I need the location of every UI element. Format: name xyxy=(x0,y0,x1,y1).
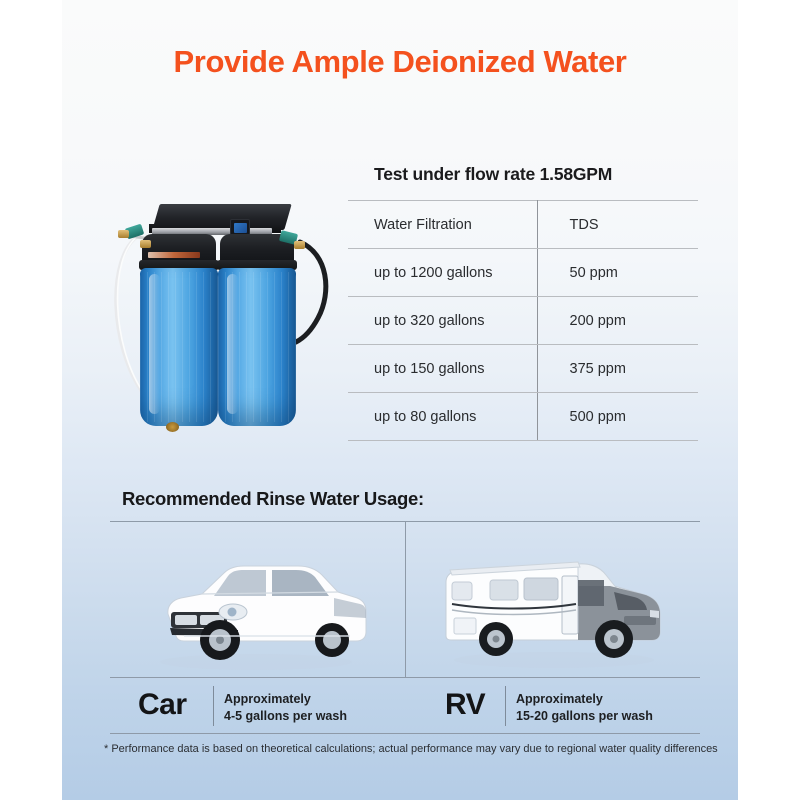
table-row: up to 80 gallons 500 ppm xyxy=(348,393,698,441)
column-header-tds: TDS xyxy=(537,201,698,249)
car-label: Car xyxy=(138,688,187,722)
table-row: up to 150 gallons 375 ppm xyxy=(348,345,698,393)
car-image xyxy=(128,540,378,675)
column-header-filtration: Water Filtration xyxy=(348,201,537,249)
product-image xyxy=(104,196,344,442)
table-header-row: Water Filtration TDS xyxy=(348,201,698,249)
table-body: up to 1200 gallons 50 ppm up to 320 gall… xyxy=(348,249,698,441)
cell-tds: 50 ppm xyxy=(537,249,698,297)
rv-label-divider xyxy=(505,686,506,726)
usage-section-title: Recommended Rinse Water Usage: xyxy=(122,488,424,510)
cell-tds: 200 ppm xyxy=(537,297,698,345)
filter-label-strip xyxy=(148,252,200,258)
table-caption: Test under flow rate 1.58GPM xyxy=(348,164,698,200)
filtration-table: Water Filtration TDS up to 1200 gallons … xyxy=(348,200,698,441)
brass-fitting-right xyxy=(294,241,305,249)
filter-housing-left xyxy=(140,268,218,426)
brass-fitting-left xyxy=(140,240,151,248)
usage-divider-mid xyxy=(110,677,700,678)
filter-housing-right xyxy=(218,268,296,426)
rv-image xyxy=(428,540,678,675)
footnote-disclaimer: * Performance data is based on theoretic… xyxy=(104,743,704,755)
cell-filtration: up to 320 gallons xyxy=(348,297,537,345)
table-row: up to 1200 gallons 50 ppm xyxy=(348,249,698,297)
rv-description: Approximately 15-20 gallons per wash xyxy=(516,691,653,725)
cell-tds: 500 ppm xyxy=(537,393,698,441)
page-title: Provide Ample Deionized Water xyxy=(62,44,738,80)
drain-valve-icon xyxy=(166,422,179,432)
cell-filtration: up to 80 gallons xyxy=(348,393,537,441)
infographic-page: Provide Ample Deionized Water Test under… xyxy=(0,0,800,800)
car-description: Approximately 4-5 gallons per wash xyxy=(224,691,347,725)
car-label-divider xyxy=(213,686,214,726)
brass-fitting-inlet xyxy=(118,230,129,238)
rv-label: RV xyxy=(445,688,485,722)
table-row: up to 320 gallons 200 ppm xyxy=(348,297,698,345)
cell-filtration: up to 1200 gallons xyxy=(348,249,537,297)
cell-filtration: up to 150 gallons xyxy=(348,345,537,393)
usage-column-divider xyxy=(405,521,406,677)
spec-table-section: Test under flow rate 1.58GPM Water Filtr… xyxy=(348,164,698,441)
cell-tds: 375 ppm xyxy=(537,345,698,393)
usage-divider-bottom xyxy=(110,733,700,734)
table-head: Water Filtration TDS xyxy=(348,201,698,249)
